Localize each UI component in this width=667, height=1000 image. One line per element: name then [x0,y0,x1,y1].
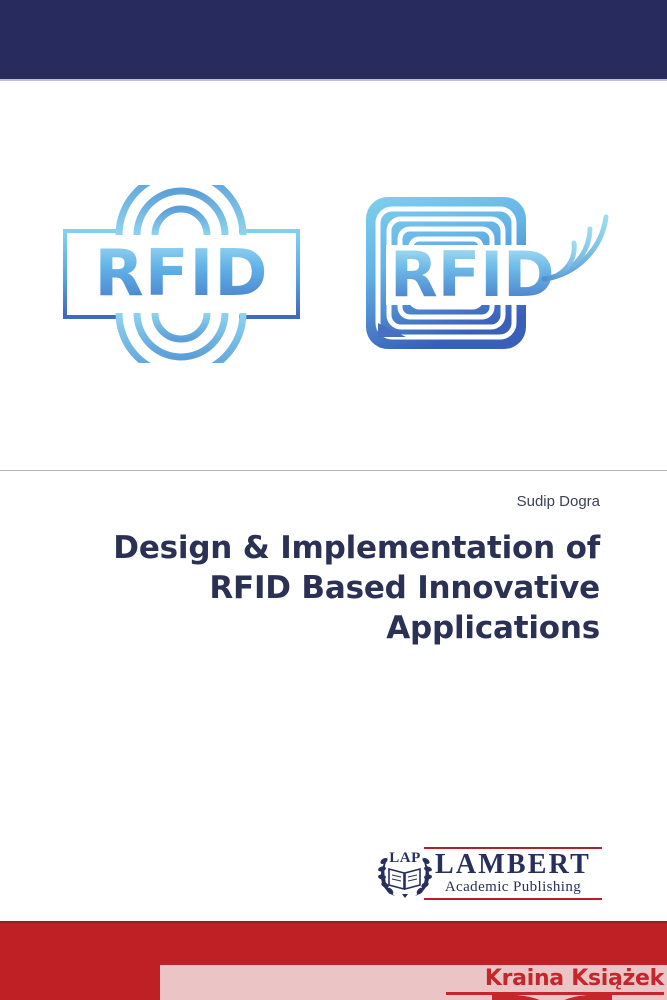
watermark-text: Kraina Książek [485,967,664,991]
svg-text:LAP: LAP [389,850,421,866]
title-line-2: RFID Based Innovative [30,568,600,608]
rfid-wave-bottom-icon [111,313,251,363]
publisher-name: LAMBERT [424,850,602,879]
rfid-wave-right-icon [540,203,610,283]
book-cover: RFID [0,0,667,1000]
header-divider [0,470,667,471]
bottom-band-edge [0,921,667,923]
watermark-overlay: Kraina Książek [160,965,667,1000]
book-title: Design & Implementation of RFID Based In… [30,528,600,648]
title-line-3: Applications [30,608,600,648]
cover-artwork: RFID [0,81,667,470]
top-color-band [0,0,667,79]
publisher-subtitle: Academic Publishing [424,879,602,896]
author-name: Sudip Dogra [0,493,600,510]
watermark-book-icon [492,994,612,1000]
publisher-logo: LAP LAMBERT Academic Publishing [376,845,602,903]
rfid-wordmark-left: RFID [57,235,306,313]
rfid-framed-logo: RFID [57,185,312,360]
publisher-wordmark: LAMBERT Academic Publishing [424,847,602,900]
rfid-tag-logo: RFID [362,193,607,358]
publisher-rule-bottom [424,898,602,900]
title-line-1: Design & Implementation of [30,528,600,568]
rfid-wave-top-icon [111,185,251,235]
